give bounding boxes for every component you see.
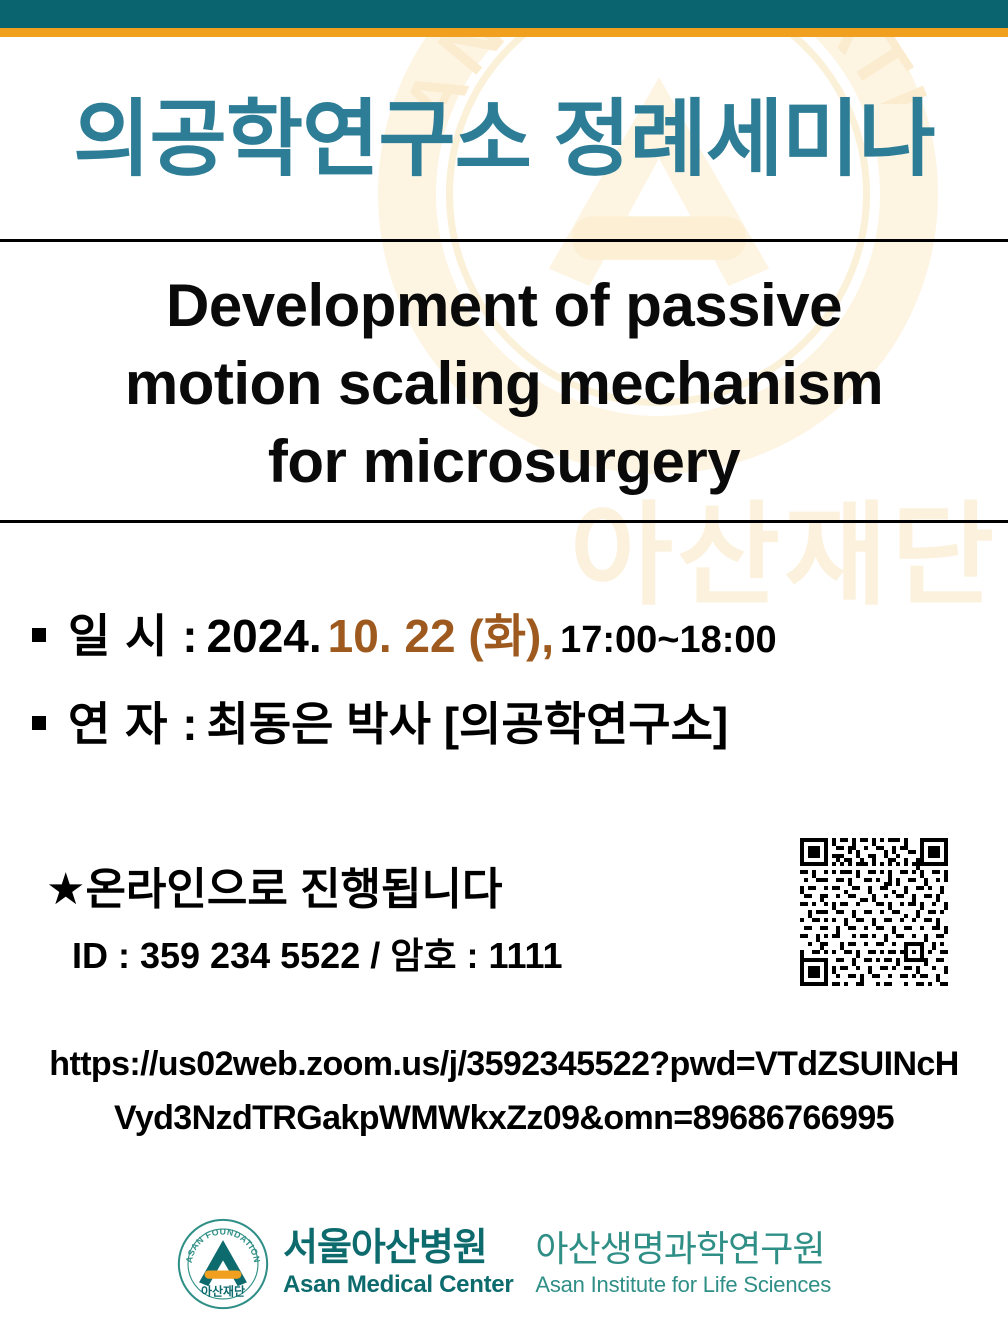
online-notice: ★온라인으로 진행됩니다 ID : 359 234 5522 / 암호 : 11…	[46, 868, 563, 974]
info-row-datetime: 일 시 : 2024. 10. 22 (화), 17:00~18:00	[0, 600, 1008, 688]
asan-foundation-emblem: ASAN FOUNDATION 아산재단	[177, 1218, 269, 1310]
qr-code-image	[800, 838, 948, 986]
subject-line-1: Development of passive	[166, 267, 842, 345]
divider-top	[0, 239, 1008, 242]
divider-bottom	[0, 520, 1008, 523]
seminar-subject: Development of passive motion scaling me…	[0, 250, 1008, 518]
asan-foundation-logo-icon: ASAN FOUNDATION 아산재단	[177, 1218, 269, 1310]
online-credentials: ID : 359 234 5522 / 암호 : 1111	[72, 938, 563, 974]
top-orange-bar	[0, 28, 1008, 37]
asan-institute-logo: 아산생명과학연구원 Asan Institute for Life Scienc…	[535, 1230, 831, 1297]
header: 의공학연구소 정례세미나	[0, 37, 1008, 240]
page-title: 의공학연구소 정례세미나	[73, 97, 934, 181]
seminar-poster: ASAN FOUNDATION 아산재단 의공학연구소 정례세미나 Develo…	[0, 0, 1008, 1344]
datetime-year: 2024.	[207, 609, 322, 663]
footer-logos: ASAN FOUNDATION 아산재단 서울아산병원 Asan Medical…	[0, 1212, 1008, 1316]
speaker-value: 최동은 박사 [의공학연구소]	[207, 688, 729, 754]
subject-line-3: for microsurgery	[268, 423, 740, 501]
zoom-url[interactable]: https://us02web.zoom.us/j/3592345522?pwd…	[0, 1038, 1008, 1145]
ails-name-en: Asan Institute for Life Sciences	[535, 1272, 831, 1297]
zoom-url-line-2: Vyd3NzdTRGakpWMWkxZz09&omn=89686766995	[0, 1092, 1008, 1146]
amc-name-en: Asan Medical Center	[283, 1271, 513, 1299]
amc-name-ko: 서울아산병원	[283, 1229, 513, 1269]
zoom-url-line-1: https://us02web.zoom.us/j/3592345522?pwd…	[0, 1038, 1008, 1092]
top-teal-bar	[0, 0, 1008, 28]
datetime-label: 일 시 :	[68, 600, 199, 666]
star-icon: ★	[46, 865, 85, 914]
datetime-time: 17:00~18:00	[560, 619, 777, 662]
asan-medical-center-logo: 서울아산병원 Asan Medical Center	[283, 1229, 513, 1298]
subject-line-2: motion scaling mechanism	[125, 345, 883, 423]
datetime-accent: 10. 22 (화),	[328, 600, 554, 666]
svg-text:아산재단: 아산재단	[201, 1283, 245, 1298]
ails-name-ko: 아산생명과학연구원	[535, 1230, 831, 1268]
bullet-square-icon	[32, 628, 46, 642]
info-row-speaker: 연 자 : 최동은 박사 [의공학연구소]	[0, 688, 1008, 776]
bullet-square-icon	[32, 716, 46, 730]
qr-code[interactable]	[800, 838, 948, 986]
seminar-info: 일 시 : 2024. 10. 22 (화), 17:00~18:00 연 자 …	[0, 600, 1008, 776]
online-headline-text: 온라인으로 진행됩니다	[85, 865, 502, 914]
online-headline: ★온라인으로 진행됩니다	[46, 868, 563, 912]
speaker-label: 연 자 :	[68, 688, 199, 754]
